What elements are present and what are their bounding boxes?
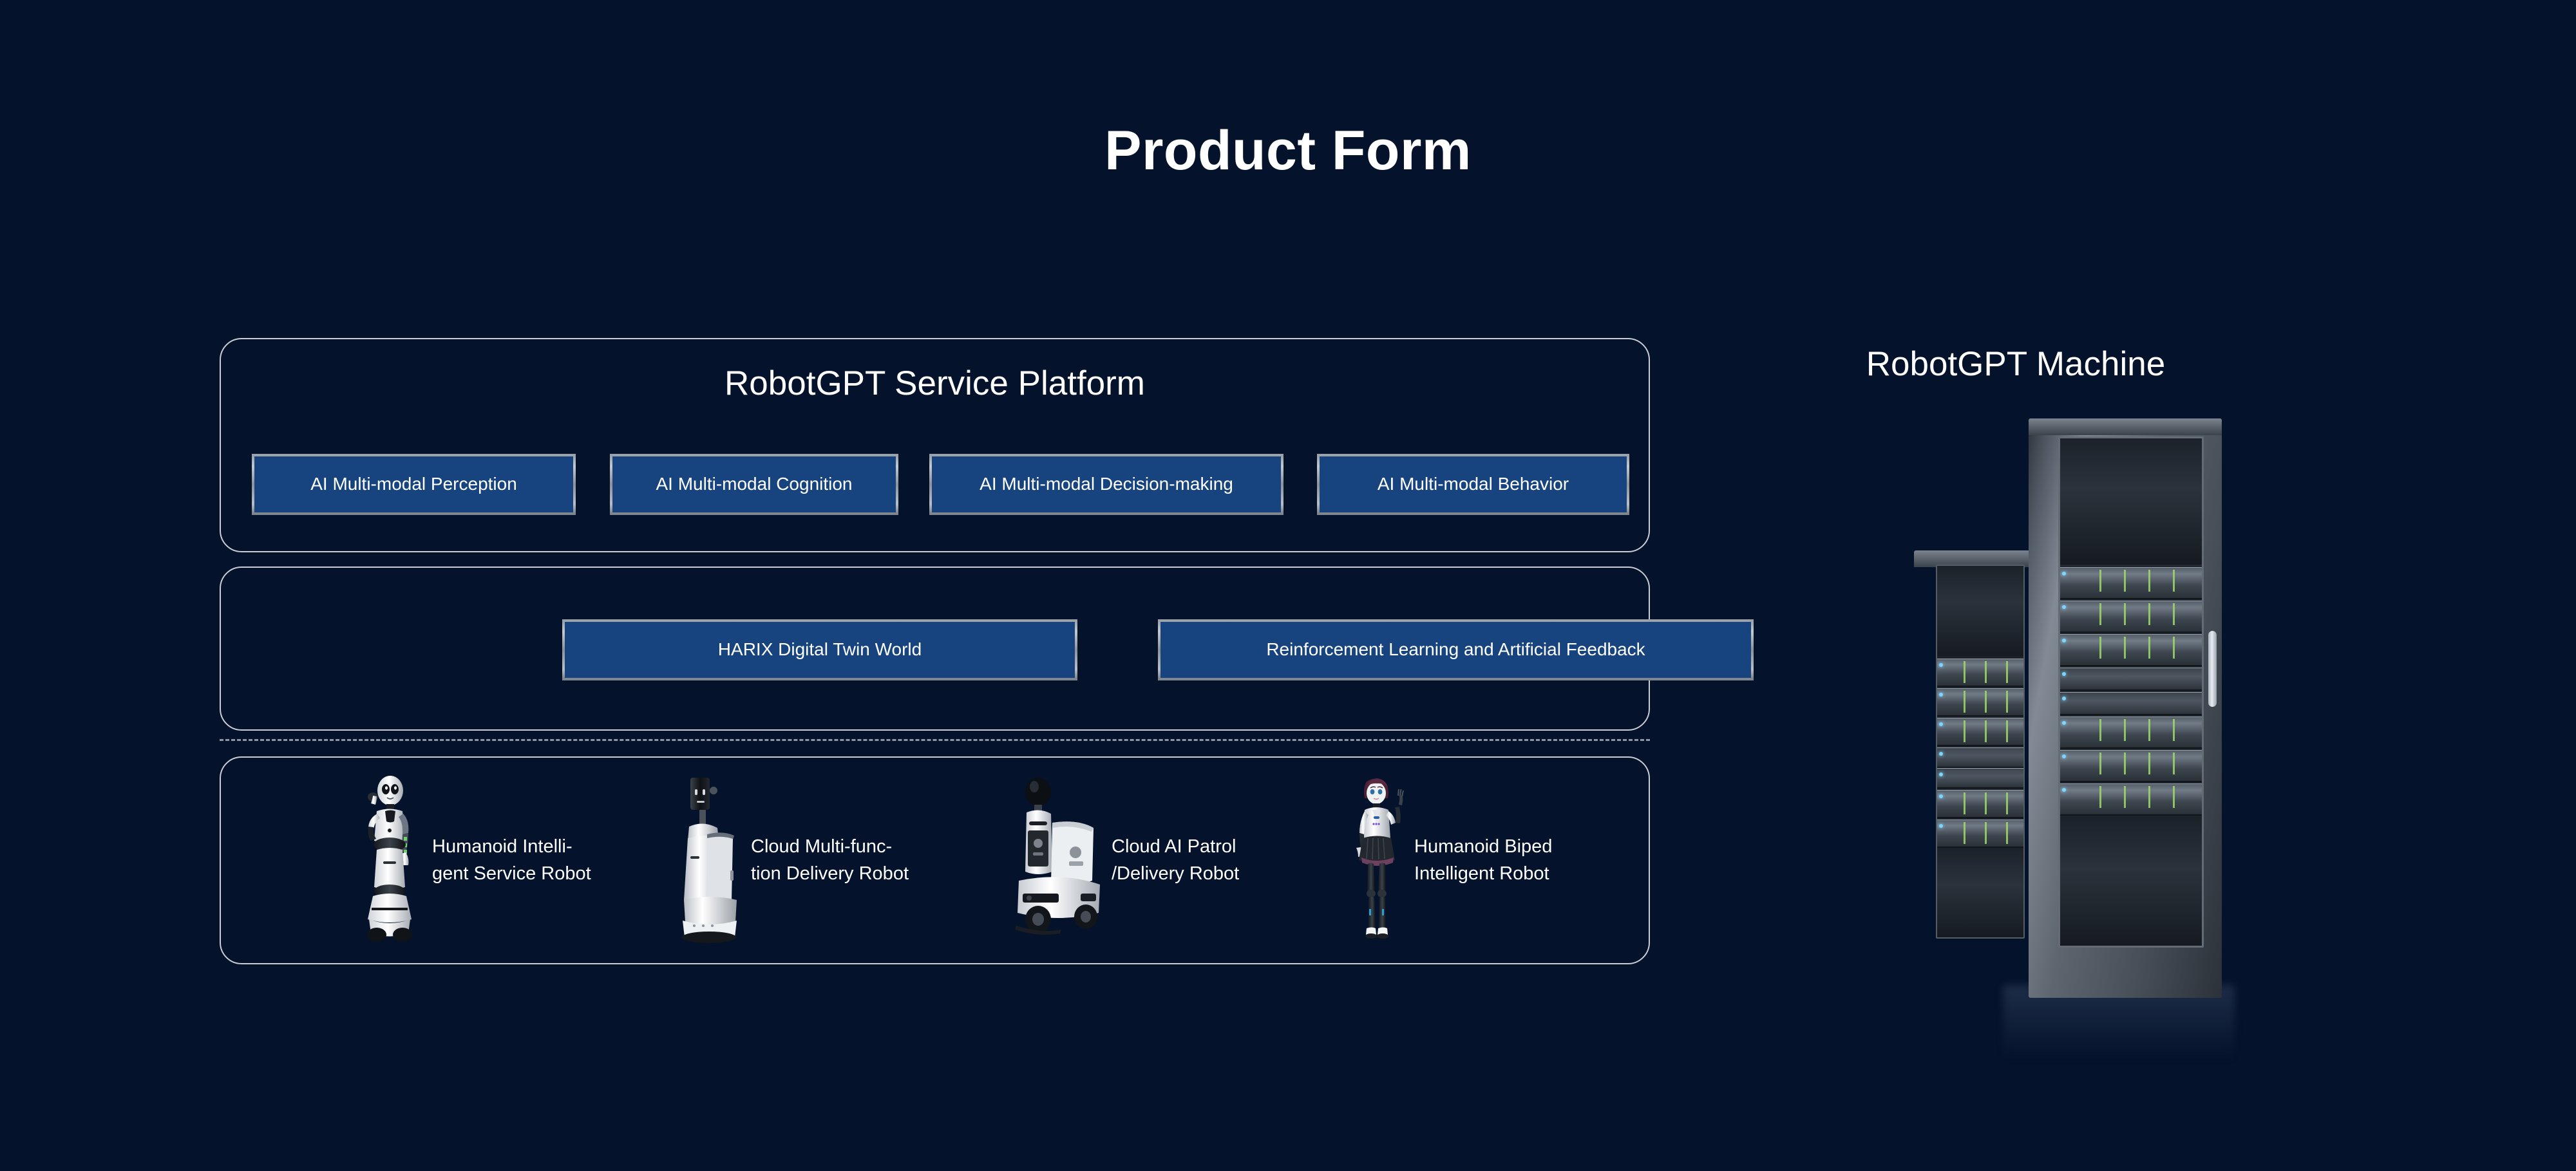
chip-ai-multimodal-decision-making[interactable]: AI Multi-modal Decision-making	[929, 454, 1283, 515]
chip-reinforcement-learning-feedback[interactable]: Reinforcement Learning and Artificial Fe…	[1158, 619, 1754, 680]
rack-door-handle[interactable]	[2208, 631, 2217, 707]
engine-panel: HARIX Digital Twin World Reinforcement L…	[220, 567, 1650, 731]
humanoid-biped-robot-icon	[1345, 774, 1409, 948]
humanoid-service-robot-icon	[350, 774, 427, 948]
rack-rear-bay	[1936, 565, 2025, 939]
robot-label: Cloud Multi-func- tion Delivery Robot	[751, 834, 909, 886]
server-rack-rear	[1914, 550, 2031, 979]
robot-card-cloud-delivery[interactable]: Cloud Multi-func- tion Delivery Robot	[675, 758, 909, 963]
robot-card-humanoid-biped[interactable]: Humanoid Biped Intelligent Robot	[1345, 758, 1552, 963]
slide-root: Product Form RobotGPT Service Platform A…	[0, 0, 2576, 1171]
robots-panel: Humanoid Intelli- gent Service Robot	[220, 756, 1650, 964]
chip-ai-multimodal-cognition[interactable]: AI Multi-modal Cognition	[610, 454, 898, 515]
rack-front-bay	[2058, 436, 2204, 948]
server-rack-front	[2029, 418, 2222, 998]
platform-panel: RobotGPT Service Platform AI Multi-modal…	[220, 338, 1650, 552]
chip-ai-multimodal-perception[interactable]: AI Multi-modal Perception	[252, 454, 576, 515]
cloud-patrol-robot-icon	[1010, 774, 1106, 948]
capability-chip-row: AI Multi-modal Perception AI Multi-modal…	[221, 454, 1649, 515]
robot-card-cloud-patrol[interactable]: Cloud AI Patrol /Delivery Robot	[1010, 758, 1239, 963]
machine-title: RobotGPT Machine	[1739, 344, 2293, 384]
robot-card-humanoid-service[interactable]: Humanoid Intelli- gent Service Robot	[350, 758, 591, 963]
chip-harix-digital-twin-world[interactable]: HARIX Digital Twin World	[562, 619, 1077, 680]
cloud-delivery-robot-icon	[675, 774, 746, 948]
page-title: Product Form	[0, 119, 2576, 183]
rack-top-panel	[2029, 418, 2222, 435]
section-divider	[220, 739, 1650, 741]
robot-label: Humanoid Biped Intelligent Robot	[1414, 834, 1552, 886]
server-rack-icon	[1906, 418, 2241, 1017]
platform-title: RobotGPT Service Platform	[221, 364, 1649, 403]
chip-ai-multimodal-behavior[interactable]: AI Multi-modal Behavior	[1317, 454, 1629, 515]
robot-label: Cloud AI Patrol /Delivery Robot	[1112, 834, 1239, 886]
robot-label: Humanoid Intelli- gent Service Robot	[432, 834, 591, 886]
